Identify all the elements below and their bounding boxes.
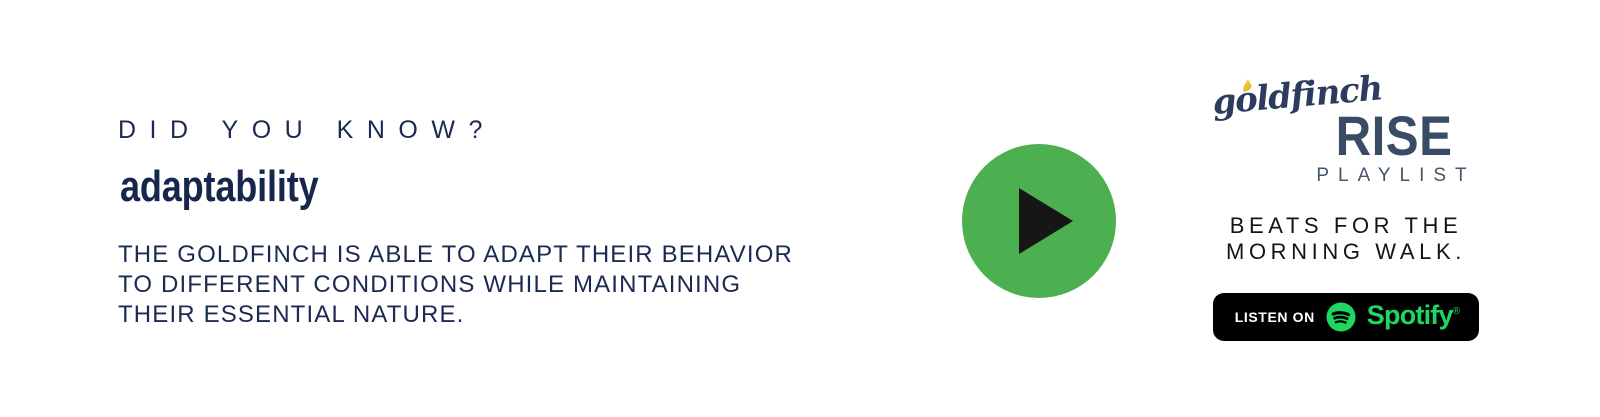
tagline-line-2: MORNING WALK. bbox=[1196, 239, 1496, 265]
tagline-line-1: BEATS FOR THE bbox=[1196, 213, 1496, 239]
spotify-wordmark: Spotify® bbox=[1367, 302, 1459, 329]
play-icon bbox=[1019, 188, 1073, 254]
goldfinch-rise-logo: goldfinch RISE PLAYLIST bbox=[1196, 76, 1496, 186]
playlist-promo-panel: goldfinch RISE PLAYLIST BEATS FOR THE MO… bbox=[1196, 76, 1496, 341]
body-paragraph: THE GOLDFINCH IS ABLE TO ADAPT THEIR BEH… bbox=[118, 240, 808, 331]
logo-title-rise: RISE bbox=[1262, 108, 1526, 164]
page-title: adaptability bbox=[120, 165, 709, 209]
spotify-registered-mark: ® bbox=[1453, 306, 1460, 317]
play-button[interactable] bbox=[962, 144, 1116, 298]
eyebrow-heading: DID YOU KNOW? bbox=[118, 118, 838, 143]
spotify-wordmark-text: Spotify bbox=[1367, 300, 1453, 330]
spotify-icon bbox=[1326, 302, 1356, 332]
playlist-promo-banner: DID YOU KNOW? adaptability THE GOLDFINCH… bbox=[0, 0, 1600, 417]
listen-on-spotify-button[interactable]: LISTEN ON Spotify® bbox=[1213, 293, 1480, 341]
did-you-know-copy-block: DID YOU KNOW? adaptability THE GOLDFINCH… bbox=[118, 118, 838, 331]
logo-subtitle-playlist: PLAYLIST bbox=[1246, 166, 1546, 185]
listen-on-label: LISTEN ON bbox=[1235, 309, 1315, 325]
playlist-tagline: BEATS FOR THE MORNING WALK. bbox=[1196, 213, 1496, 266]
